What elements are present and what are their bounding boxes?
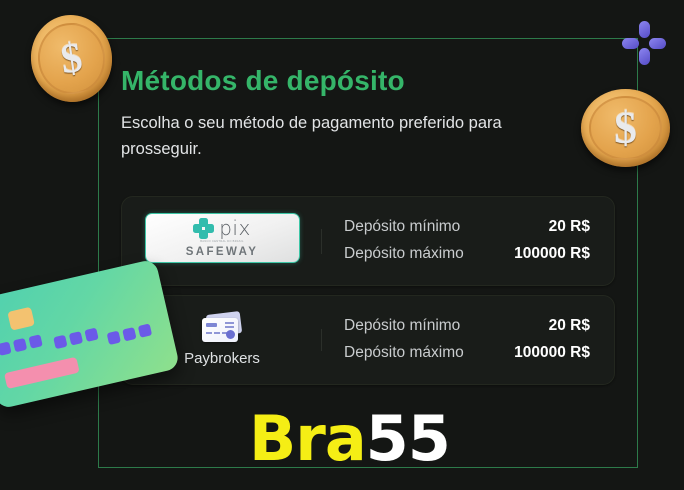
- limit-label: Depósito mínimo: [344, 214, 460, 241]
- limit-row-maximum: Depósito máximo 100000 R$: [344, 241, 590, 268]
- card-logo-dot: [226, 330, 235, 339]
- sparkle-arm-top: [639, 21, 650, 38]
- limit-value: 100000 R$: [514, 241, 590, 268]
- card-digit-block: [69, 331, 83, 345]
- pix-wordmark: pix: [219, 218, 251, 238]
- limit-label: Depósito mínimo: [344, 313, 460, 340]
- deposit-limits-pix: Depósito mínimo 20 R$ Depósito máximo 10…: [322, 214, 614, 267]
- limit-row-minimum: Depósito mínimo 20 R$: [344, 214, 590, 241]
- pix-logo-row: pix: [193, 218, 251, 239]
- credit-card-icon: [200, 313, 244, 343]
- payment-methods-list: pix BANCO CENTRAL DO BRASIL SAFEWAY Depó…: [121, 196, 615, 385]
- card-digit-block: [28, 334, 42, 348]
- deposit-limits-paybrokers: Depósito mínimo 20 R$ Depósito máximo 10…: [322, 313, 614, 366]
- limit-value: 20 R$: [549, 313, 590, 340]
- sparkle-arm-bottom: [639, 48, 650, 65]
- safeway-brand-label: SAFEWAY: [186, 246, 259, 258]
- card-digit-block: [0, 342, 12, 356]
- limit-label: Depósito máximo: [344, 241, 464, 268]
- watermark-part-a: Bra: [249, 402, 366, 475]
- card-chip: [7, 307, 35, 331]
- card-digit-block: [13, 338, 27, 352]
- card-front-layer: [202, 318, 238, 342]
- page-title: Métodos de depósito: [121, 65, 615, 97]
- limit-row-maximum: Depósito máximo 100000 R$: [344, 340, 590, 367]
- pix-diamond-icon: [193, 218, 214, 239]
- limit-label: Depósito máximo: [344, 340, 464, 367]
- sparkle-arm-right: [649, 38, 666, 49]
- method-logo-cell: pix BANCO CENTRAL DO BRASIL SAFEWAY: [122, 213, 322, 270]
- pix-logo-tile: pix BANCO CENTRAL DO BRASIL SAFEWAY: [145, 213, 300, 263]
- panel-content: Métodos de depósito Escolha o seu método…: [99, 39, 637, 385]
- limit-value: 100000 R$: [514, 340, 590, 367]
- card-magnetic-stripe: [4, 357, 80, 389]
- dollar-sign-glyph: $: [58, 36, 85, 81]
- method-logo-cell: Paybrokers: [122, 313, 322, 367]
- method-name-label: Paybrokers: [184, 350, 260, 367]
- watermark-part-b: 55: [366, 402, 450, 475]
- page-subtitle: Escolha o seu método de pagamento prefer…: [121, 111, 571, 162]
- payment-method-pix-safeway[interactable]: pix BANCO CENTRAL DO BRASIL SAFEWAY Depó…: [121, 196, 615, 286]
- limit-row-minimum: Depósito mínimo 20 R$: [344, 313, 590, 340]
- card-digit-block: [84, 328, 98, 342]
- limit-value: 20 R$: [549, 214, 590, 241]
- brand-watermark: Bra55: [249, 408, 450, 470]
- pix-sublabel: BANCO CENTRAL DO BRASIL: [200, 240, 243, 244]
- card-digit-block: [53, 335, 67, 349]
- payment-method-paybrokers[interactable]: Paybrokers Depósito mínimo 20 R$ Depósit…: [121, 295, 615, 385]
